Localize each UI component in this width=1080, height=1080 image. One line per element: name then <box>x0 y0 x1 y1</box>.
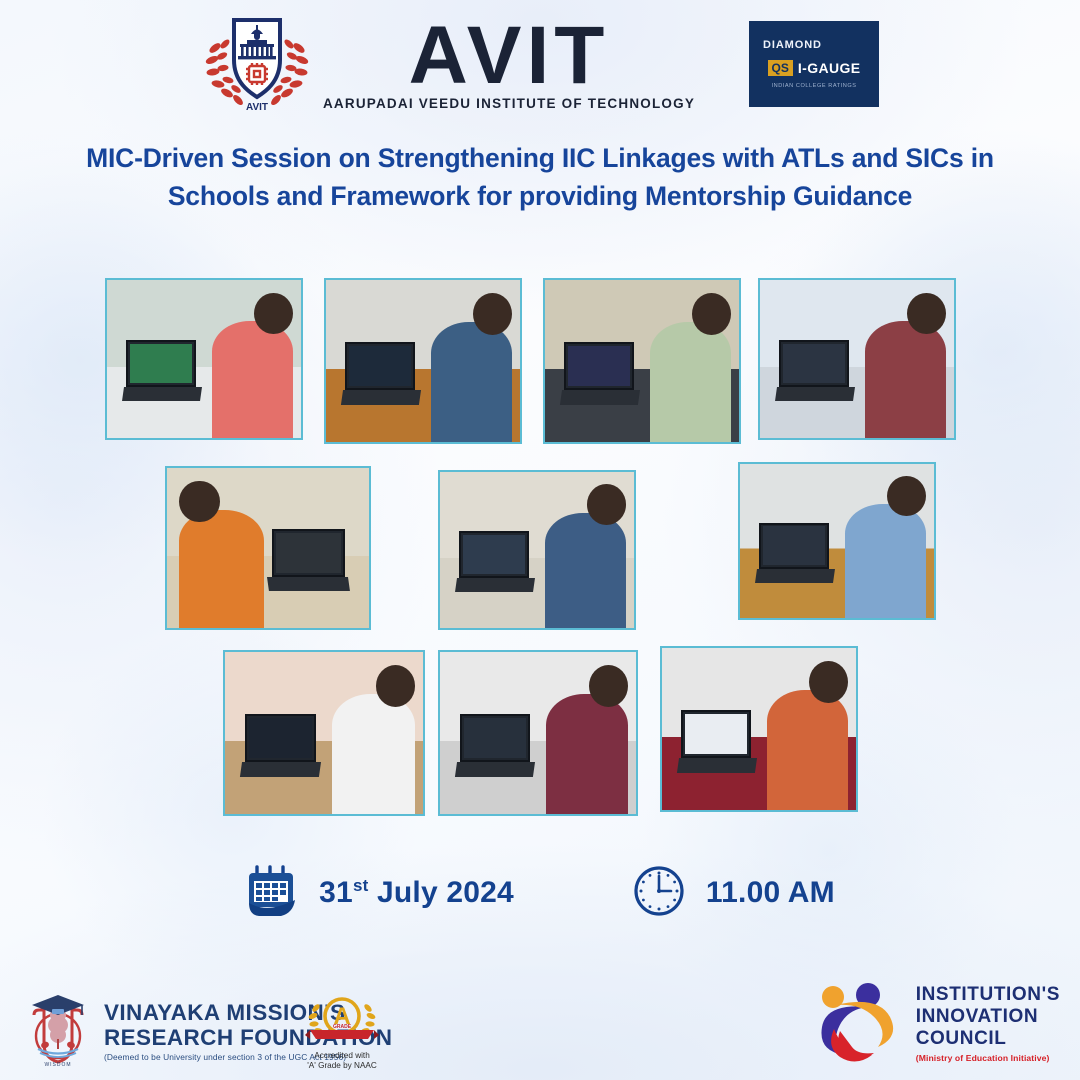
avit-wordmark: AVIT AARUPADAI VEEDU INSTITUTE OF TECHNO… <box>323 17 695 111</box>
event-time: 11.00 AM <box>632 863 835 924</box>
iic-line-1: INSTITUTION'S <box>916 984 1060 1006</box>
avit-acronym: AVIT <box>409 17 610 94</box>
qs-igauge-badge: DIAMOND QS I-GAUGE INDIAN COLLEGE RATING… <box>749 21 879 107</box>
vmrf-logo-icon: WISDOM <box>22 989 94 1074</box>
naac-grade-icon: A GRADE <box>302 1033 382 1050</box>
poster-footer: WISDOM VINAYAKA MISSION'S RESEARCH FOUND… <box>0 970 1080 1080</box>
page-title: MIC-Driven Session on Strengthening IIC … <box>60 140 1020 215</box>
gallery-photo <box>223 650 425 816</box>
iic-ministry-note: (Ministry of Education Initiative) <box>916 1053 1060 1063</box>
calendar-icon <box>245 863 299 924</box>
avit-fullname: AARUPADAI VEEDU INSTITUTE OF TECHNOLOGY <box>323 96 695 111</box>
gallery-photo <box>105 278 303 440</box>
qs-name: I-GAUGE <box>798 60 861 76</box>
date-day: 31 <box>319 876 353 909</box>
crest-label: AVIT <box>246 102 268 113</box>
date-suffix: st <box>353 876 369 895</box>
naac-accreditation: A GRADE Accredited with 'A' Grade by NAA… <box>302 992 382 1072</box>
gallery-photo <box>324 278 522 444</box>
event-meta: 31st July 2024 <box>0 850 1080 936</box>
gallery-photo <box>758 278 956 440</box>
gallery-photo <box>543 278 741 444</box>
qs-tier-label: DIAMOND <box>763 39 822 51</box>
clock-icon <box>632 863 686 924</box>
gallery-photo <box>165 466 371 630</box>
event-date: 31st July 2024 <box>245 863 514 924</box>
gallery-photo <box>660 646 858 812</box>
naac-line-1: Accredited with <box>302 1051 382 1062</box>
iic-branding: INSTITUTION'S INNOVATION COUNCIL (Minist… <box>816 979 1060 1068</box>
gallery-photo <box>438 650 638 816</box>
naac-line-2: 'A' Grade by NAAC <box>302 1061 382 1072</box>
event-date-text: 31st July 2024 <box>319 876 514 910</box>
date-rest: July 2024 <box>377 876 514 909</box>
gallery-photo <box>438 470 636 630</box>
iic-logo-icon <box>816 979 902 1068</box>
qs-footnote: INDIAN COLLEGE RATINGS <box>772 83 857 89</box>
iic-line-3: COUNCIL <box>916 1028 1060 1050</box>
title-line-1: MIC-Driven Session on Strengthening IIC … <box>86 143 994 173</box>
qs-mark: QS <box>768 60 793 76</box>
gallery-photo <box>738 462 936 620</box>
iic-line-2: INNOVATION <box>916 1006 1060 1028</box>
event-time-text: 11.00 AM <box>706 876 835 910</box>
svg-text:WISDOM: WISDOM <box>44 1062 71 1068</box>
title-line-2: Schools and Framework for providing Ment… <box>168 181 912 211</box>
naac-ribbon-text: GRADE <box>333 1024 352 1030</box>
poster-header: AVIT AVIT AARUPADAI VEEDU INSTITUTE OF T… <box>0 8 1080 120</box>
avit-crest-logo: AVIT <box>201 14 313 114</box>
poster-canvas: AVIT AVIT AARUPADAI VEEDU INSTITUTE OF T… <box>0 0 1080 1080</box>
